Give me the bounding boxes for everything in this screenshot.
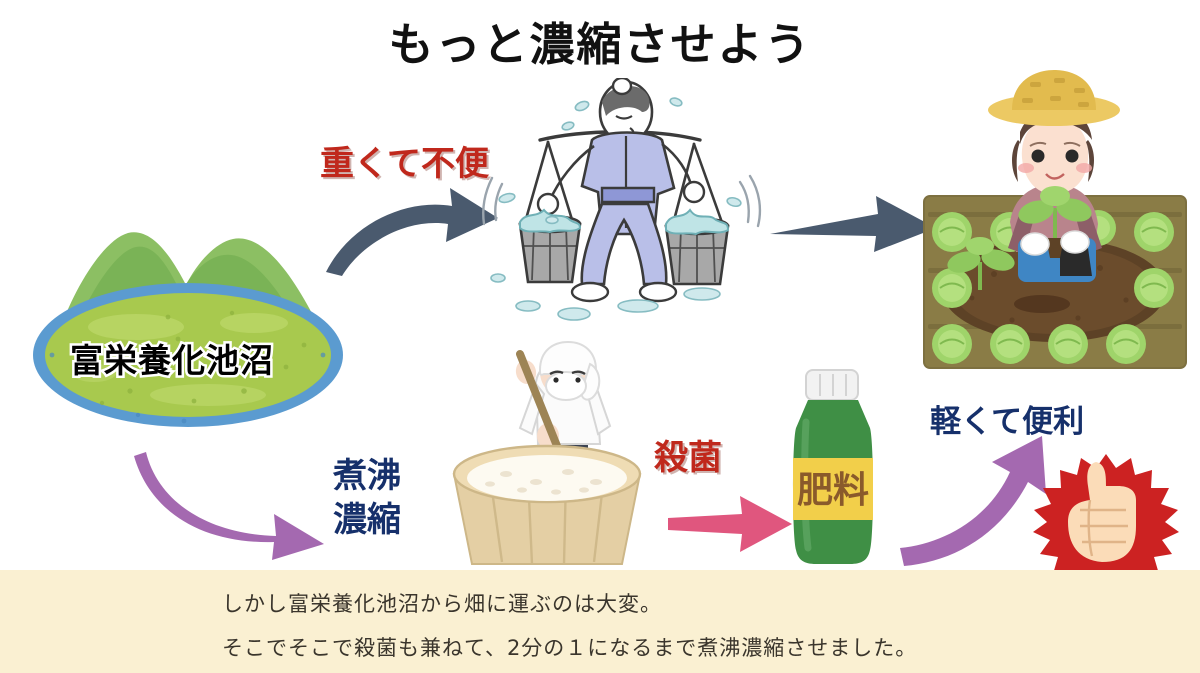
good-badge-svg: [1026, 452, 1186, 582]
pond-svg: [18, 205, 358, 435]
worker-mask: [546, 372, 586, 400]
light-convenient-label: 軽くて便利: [930, 396, 1084, 441]
fertilizer-bottle-illustration: 肥料: [778, 366, 888, 571]
arrow-pond-to-boiling: [128, 428, 333, 563]
carrier-foot-left: [572, 283, 608, 301]
algae-patch: [220, 313, 288, 333]
farmer-eye-left: [1032, 150, 1045, 163]
arrow-shape: [900, 436, 1046, 566]
vat-liquid: [467, 455, 627, 501]
pond-label: 富栄養化池沼: [70, 334, 274, 382]
carrier-bun: [613, 78, 631, 94]
carrier-hand-right: [684, 182, 704, 202]
soil-hole: [1014, 295, 1070, 313]
algae-patch: [150, 384, 266, 406]
worker-eye-right: [575, 377, 580, 382]
boiling-svg: [432, 340, 662, 572]
carrier-svg: [462, 78, 762, 340]
worker-eye-left: [553, 377, 558, 382]
arrow-shape: [668, 496, 792, 552]
farmer-glove-right: [1061, 231, 1089, 253]
boiling-vat-illustration: [432, 340, 662, 572]
boil-label: 煮沸: [333, 455, 401, 499]
bottle-label-text: 肥料: [797, 470, 869, 511]
eutrophic-pond-illustration: 富栄養化池沼: [18, 205, 358, 435]
farmer-field-illustration: [902, 62, 1200, 372]
carrier-hand-left: [538, 194, 558, 214]
arrow-boiling-to-bottle: [666, 488, 796, 560]
caption-line-1: しかし富栄養化池沼から畑に運ぶのは大変。: [222, 588, 662, 618]
carrier-sash: [602, 188, 654, 202]
farmer-eye-right: [1066, 150, 1079, 163]
farmer-cheek: [1018, 163, 1034, 173]
carrier-foot-right: [640, 283, 676, 301]
farmer-hair-side: [1012, 140, 1020, 182]
boil-concentrate-label: 煮沸 濃縮: [333, 455, 401, 542]
farmer-cheek: [1076, 163, 1092, 173]
concentrate-label: 濃縮: [333, 499, 401, 543]
bucket-right: [666, 210, 728, 284]
infographic-canvas: もっと濃縮させよう: [0, 0, 1200, 673]
bucket-carrier-illustration: [462, 78, 762, 340]
heavy-inconvenient-label: 重くて不便: [320, 136, 489, 185]
good-badge-illustration: [1026, 452, 1186, 582]
farmer-glove-left: [1021, 233, 1049, 255]
caption-line-2: そこでそこで殺菌も兼ねて、2分の１になるまで煮沸濃縮させました。: [222, 632, 917, 662]
farmer-svg: [902, 62, 1200, 372]
arrow-shape: [134, 452, 324, 560]
carrier-legs: [582, 204, 667, 284]
bottle-svg: 肥料: [778, 366, 888, 571]
sterilize-label: 殺菌: [654, 430, 722, 479]
seedling-leaf: [1040, 186, 1070, 206]
